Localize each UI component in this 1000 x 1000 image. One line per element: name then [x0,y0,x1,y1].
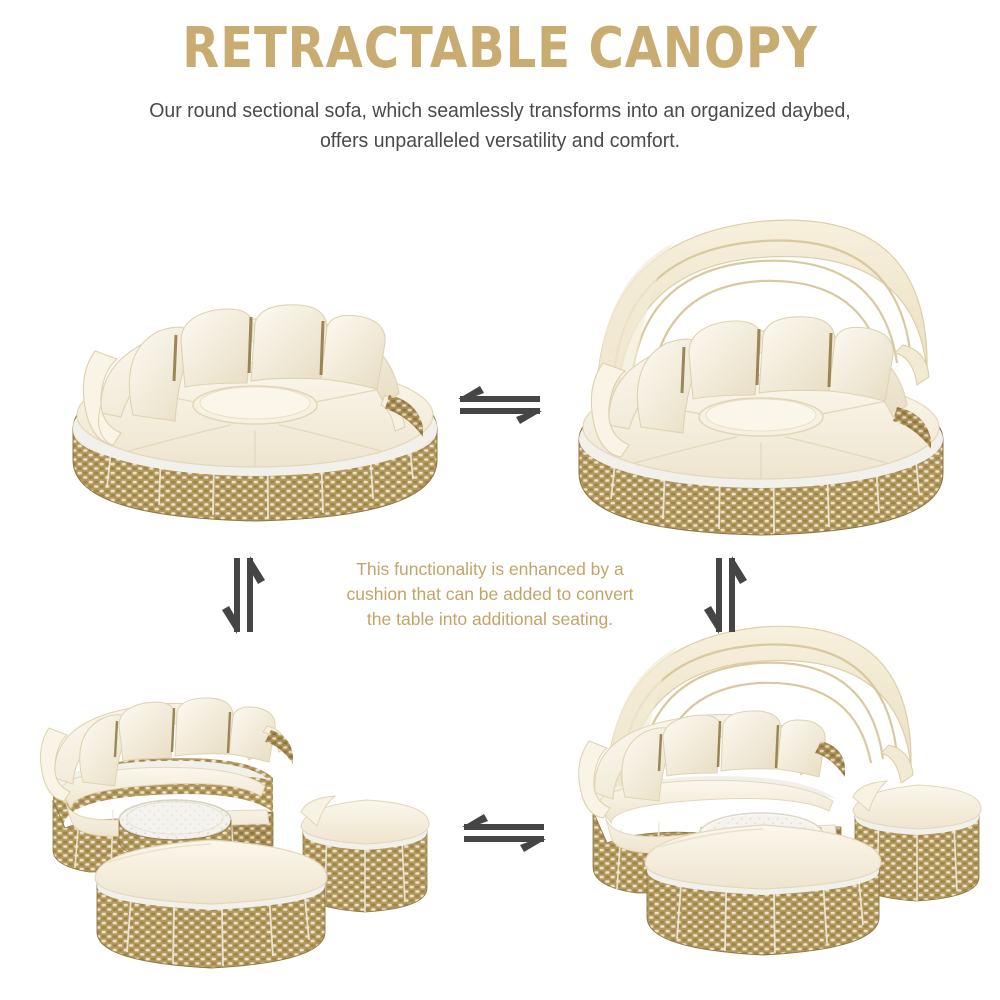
product-image-daybed-separated-with-canopy [555,605,985,970]
product-image-daybed-closed-no-canopy [55,255,455,555]
page-subtitle: Our round sectional sofa, which seamless… [130,96,871,156]
large-ottoman [95,840,327,968]
page-title: RETRACTABLE CANOPY [70,20,930,78]
product-image-daybed-separated-no-canopy [35,660,445,970]
double-arrow-vertical-icon-left [214,556,272,634]
double-arrow-horizontal-icon-bottom [462,800,546,856]
double-arrow-horizontal-icon-top [458,372,542,428]
large-ottoman [645,825,881,955]
infographic-page: RETRACTABLE CANOPY Our round sectional s… [0,0,1000,1000]
product-image-daybed-closed-with-canopy [555,195,965,555]
double-arrow-vertical-icon-right [696,556,754,634]
